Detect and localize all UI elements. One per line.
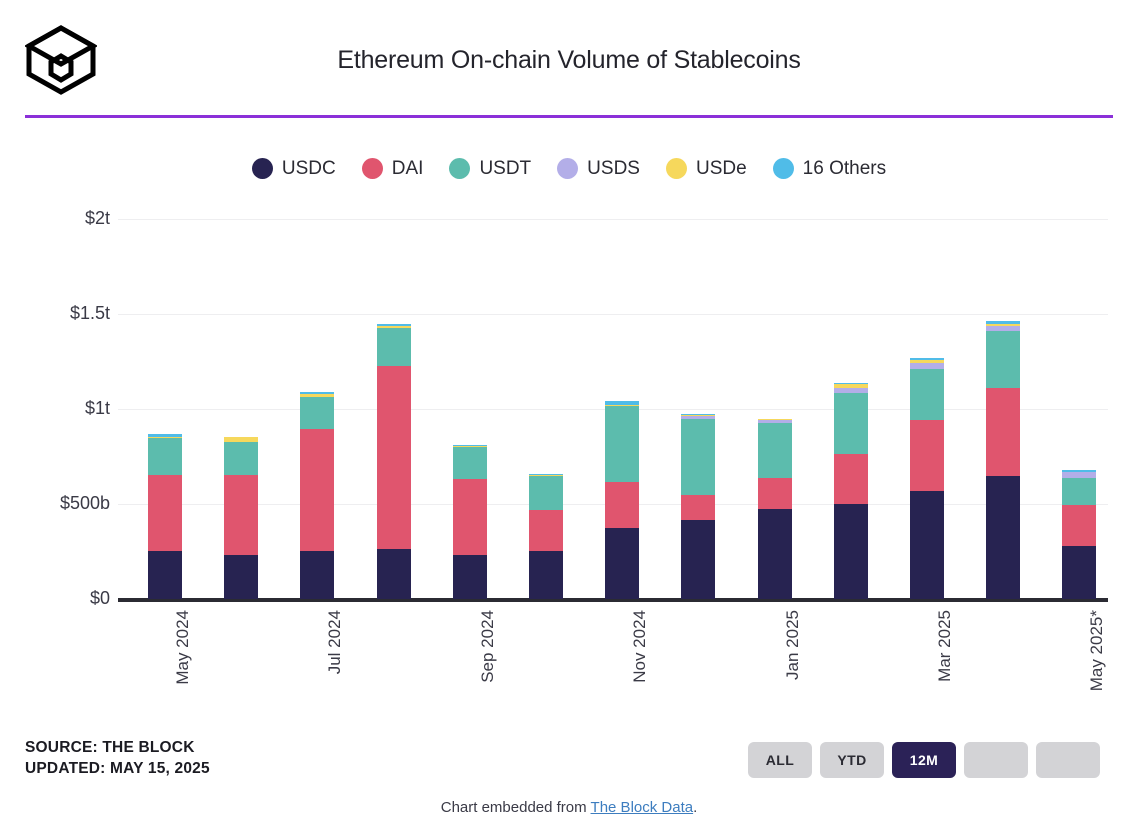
bar-segment[interactable] [910,369,944,420]
range-button-4[interactable] [964,742,1028,778]
bar-segment[interactable] [986,331,1020,388]
x-axis-tick-label: Mar 2025 [935,610,955,682]
bar-segment[interactable] [453,445,487,446]
chart-container: Ethereum On-chain Volume of Stablecoins … [0,0,1138,826]
bar-segment[interactable] [224,475,258,556]
legend-swatch-icon [362,158,383,179]
bar-segment[interactable] [453,479,487,555]
page-title: Ethereum On-chain Volume of Stablecoins [0,46,1138,75]
bar-segment[interactable] [986,388,1020,476]
legend-label: USDC [282,159,336,178]
bar-stack[interactable] [910,358,944,599]
legend-swatch-icon [666,158,687,179]
bar-segment[interactable] [300,551,334,599]
bar-segment[interactable] [529,551,563,599]
bar-segment[interactable] [529,474,563,475]
legend-item-16-others[interactable]: 16 Others [773,158,886,179]
bar-segment[interactable] [758,509,792,599]
bar-segment[interactable] [453,446,487,447]
bar-stack[interactable] [224,437,258,599]
x-axis-tick-label: Nov 2024 [630,610,650,683]
bar-segment[interactable] [681,415,715,416]
x-axis-tick-label: May 2025* [1087,610,1107,691]
plot-region: $0$500b$1t$1.5t$2t May 2024Jul 2024Sep 2… [0,0,1138,826]
bar-segment[interactable] [605,406,639,482]
y-axis-tick-label: $2t [18,208,110,229]
bar-segment[interactable] [681,520,715,599]
bar-segment[interactable] [910,420,944,490]
legend-label: 16 Others [803,159,886,178]
bar-segment[interactable] [910,363,944,369]
legend-item-usdc[interactable]: USDC [252,158,336,179]
bar-segment[interactable] [300,429,334,552]
bar-segment[interactable] [529,475,563,477]
bar-segment[interactable] [758,419,792,420]
bar-segment[interactable] [681,416,715,420]
bar-segment[interactable] [758,420,792,423]
bar-segment[interactable] [224,437,258,438]
gridline [118,504,1108,505]
bar-segment[interactable] [148,437,182,439]
y-axis-tick-label: $0 [18,588,110,609]
legend-swatch-icon [449,158,470,179]
legend-swatch-icon [252,158,273,179]
legend-swatch-icon [557,158,578,179]
bar-segment[interactable] [986,476,1020,599]
bar-segment[interactable] [377,328,411,366]
bar-stack[interactable] [148,434,182,599]
bar-segment[interactable] [758,423,792,478]
bar-stack[interactable] [834,383,868,599]
legend-item-usdt[interactable]: USDT [449,158,531,179]
gridline [118,219,1108,220]
bar-segment[interactable] [834,388,868,393]
legend-item-usde[interactable]: USDe [666,158,747,179]
bar-segment[interactable] [300,394,334,397]
bar-segment[interactable] [834,504,868,599]
bar-stack[interactable] [377,324,411,599]
bar-segment[interactable] [224,442,258,474]
y-axis-tick-label: $500b [18,493,110,514]
bar-segment[interactable] [453,447,487,479]
legend-label: DAI [392,159,424,178]
source-line: SOURCE: THE BLOCK [25,738,210,759]
bar-segment[interactable] [1062,505,1096,546]
time-range-button-group: ALL YTD 12M [748,742,1100,778]
bar-segment[interactable] [529,476,563,509]
bar-stack[interactable] [986,321,1020,599]
x-axis-tick-label: Sep 2024 [478,610,498,683]
legend-swatch-icon [773,158,794,179]
bar-segment[interactable] [377,326,411,328]
bar-segment[interactable] [224,555,258,599]
bar-segment[interactable] [834,384,868,388]
x-axis-line [118,598,1108,602]
embed-note-suffix: . [693,799,697,816]
bar-segment[interactable] [377,549,411,599]
legend-item-usds[interactable]: USDS [557,158,640,179]
bar-segment[interactable] [605,528,639,599]
bar-segment[interactable] [681,495,715,520]
bar-segment[interactable] [758,478,792,508]
bar-segment[interactable] [986,324,1020,326]
bar-segment[interactable] [300,392,334,394]
bar-segment[interactable] [910,491,944,599]
bar-segment[interactable] [986,321,1020,325]
bar-segment[interactable] [605,401,639,405]
bar-segment[interactable] [148,551,182,599]
bar-stack[interactable] [529,474,563,599]
x-axis-tick-label: Jan 2025 [783,610,803,680]
range-button-ytd[interactable]: YTD [820,742,884,778]
bar-segment[interactable] [1062,472,1096,479]
bar-segment[interactable] [834,393,868,454]
header-divider [25,115,1113,118]
legend-label: USDT [479,159,531,178]
bar-segment[interactable] [681,414,715,415]
x-axis-tick-label: May 2024 [173,610,193,685]
bar-segment[interactable] [148,475,182,551]
bar-stack[interactable] [1062,470,1096,599]
bar-segment[interactable] [910,358,944,360]
range-button-12m[interactable]: 12M [892,742,956,778]
embed-note: Chart embedded from The Block Data. [0,799,1138,816]
bar-segment[interactable] [377,324,411,326]
chart-legend: USDC DAI USDT USDS USDe 16 Others [0,158,1138,179]
bar-stack[interactable] [681,414,715,599]
bar-stack[interactable] [453,445,487,599]
y-axis-tick-label: $1t [18,398,110,419]
legend-item-dai[interactable]: DAI [362,158,424,179]
updated-line: UPDATED: MAY 15, 2025 [25,759,210,780]
legend-label: USDe [696,159,747,178]
bar-segment[interactable] [148,438,182,475]
bar-segment[interactable] [758,419,792,420]
range-button-all[interactable]: ALL [748,742,812,778]
x-axis-labels: May 2024Jul 2024Sep 2024Nov 2024Jan 2025… [0,0,1138,826]
bar-segment[interactable] [834,454,868,504]
bar-segment[interactable] [300,397,334,429]
bar-segment[interactable] [986,326,1020,331]
bar-segment[interactable] [681,419,715,495]
range-button-5[interactable] [1036,742,1100,778]
bar-segment[interactable] [605,482,639,528]
bar-segment[interactable] [605,405,639,406]
source-info: SOURCE: THE BLOCK UPDATED: MAY 15, 2025 [25,738,210,780]
bar-segment[interactable] [148,434,182,437]
x-axis-tick-label: Jul 2024 [325,610,345,674]
bar-segment[interactable] [529,510,563,552]
y-axis-labels: $0$500b$1t$1.5t$2t [0,0,1138,826]
bar-segment[interactable] [1062,470,1096,472]
gridline [118,314,1108,315]
chart-header: Ethereum On-chain Volume of Stablecoins [0,0,1138,112]
the-block-data-link[interactable]: The Block Data [591,799,694,816]
bar-stack[interactable] [605,401,639,599]
bar-segment[interactable] [1062,478,1096,505]
bar-stack[interactable] [300,392,334,599]
gridline [118,409,1108,410]
bar-segment[interactable] [1062,546,1096,599]
bar-segment[interactable] [377,366,411,548]
bar-segment[interactable] [224,437,258,442]
legend-label: USDS [587,159,640,178]
embed-note-prefix: Chart embedded from [441,799,591,816]
bar-segment[interactable] [453,555,487,599]
y-axis-tick-label: $1.5t [18,303,110,324]
bar-segment[interactable] [910,360,944,364]
bar-stack[interactable] [758,419,792,600]
bar-segment[interactable] [834,383,868,384]
